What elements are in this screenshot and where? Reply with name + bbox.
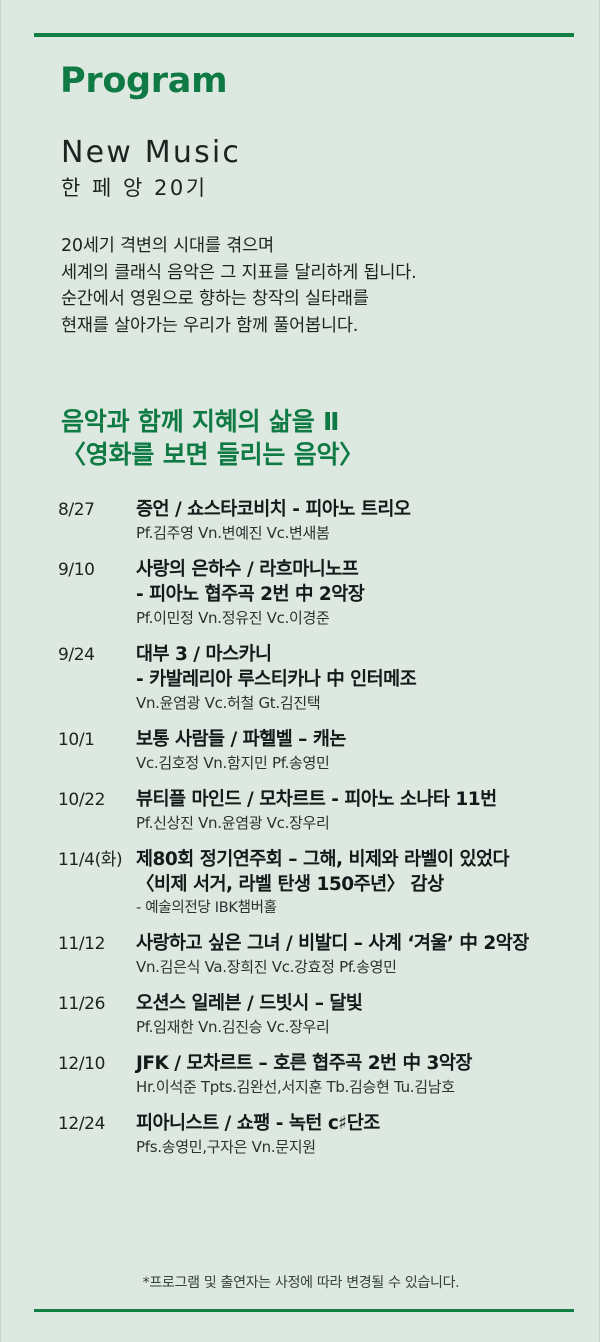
series-title-english: New Music — [61, 136, 241, 169]
entry-body: 사랑하고 싶은 그녀 / 비발디 – 사계 ‘겨울’ 中 2악장 Vn.김은식 … — [136, 931, 600, 978]
list-item: 10/22 뷰티플 마인드 / 모차르트 - 피아노 소나타 11번 Pf.신상… — [1, 787, 600, 847]
program-poster: Program New Music 한 페 앙 20기 20세기 격변의 시대를… — [0, 0, 600, 1342]
entry-title: 대부 3 / 마스카니 - 카발레리아 루스티카나 中 인터메조 — [136, 642, 600, 692]
entry-body: 대부 3 / 마스카니 - 카발레리아 루스티카나 中 인터메조 Vn.윤염광 … — [136, 642, 600, 714]
list-item: 11/26 오션스 일레븐 / 드빗시 – 달빛 Pf.임재한 Vn.김진승 V… — [1, 991, 600, 1051]
list-item: 12/24 피아니스트 / 쇼팽 - 녹턴 c♯단조 Pfs.송영민,구자은 V… — [1, 1111, 600, 1171]
entry-title: 사랑하고 싶은 그녀 / 비발디 – 사계 ‘겨울’ 中 2악장 — [136, 931, 600, 956]
entry-body: 뷰티플 마인드 / 모차르트 - 피아노 소나타 11번 Pf.신상진 Vn.윤… — [136, 787, 600, 834]
list-item: 11/12 사랑하고 싶은 그녀 / 비발디 – 사계 ‘겨울’ 中 2악장 V… — [1, 931, 600, 991]
list-item: 9/10 사랑의 은하수 / 라흐마니노프 - 피아노 협주곡 2번 中 2악장… — [1, 557, 600, 642]
entry-performers: Vc.김호정 Vn.함지민 Pf.송영민 — [136, 753, 600, 774]
entry-date: 10/1 — [58, 727, 136, 753]
section-title-line1: 음악과 함께 지혜의 삶을 Ⅱ — [61, 407, 339, 436]
entry-date: 12/24 — [58, 1111, 136, 1137]
entry-body: 사랑의 은하수 / 라흐마니노프 - 피아노 협주곡 2번 中 2악장 Pf.이… — [136, 557, 600, 629]
entry-performers: Pfs.송영민,구자은 Vn.문지원 — [136, 1137, 600, 1158]
bottom-divider-rule — [34, 1309, 574, 1312]
entry-title: 제80회 정기연주회 – 그해, 비제와 라벨이 있었다 〈비제 서거, 라벨 … — [136, 847, 600, 897]
top-divider-rule — [34, 33, 574, 37]
footnote-disclaimer: *프로그램 및 출연자는 사정에 따라 변경될 수 있습니다. — [1, 1272, 600, 1292]
entry-performers: Pf.김주영 Vn.변예진 Vc.변새봄 — [136, 523, 600, 544]
entry-body: 제80회 정기연주회 – 그해, 비제와 라벨이 있었다 〈비제 서거, 라벨 … — [136, 847, 600, 918]
entry-performers: Vn.김은식 Va.장희진 Vc.강효정 Pf.송영민 — [136, 957, 600, 978]
entry-title: 오션스 일레븐 / 드빗시 – 달빛 — [136, 991, 600, 1016]
entry-title: 피아니스트 / 쇼팽 - 녹턴 c♯단조 — [136, 1111, 600, 1136]
entry-performers: Vn.윤염광 Vc.허철 Gt.김진택 — [136, 693, 600, 714]
section-title: 음악과 함께 지혜의 삶을 Ⅱ 〈영화를 보면 들리는 음악〉 — [61, 405, 364, 471]
list-item: 10/1 보통 사람들 / 파헬벨 – 캐논 Vc.김호정 Vn.함지민 Pf.… — [1, 727, 600, 787]
entry-performers: Hr.이석준 Tpts.김완선,서지훈 Tb.김승현 Tu.김남호 — [136, 1077, 600, 1098]
series-title-korean: 한 페 앙 20기 — [61, 176, 208, 200]
entry-title: 사랑의 은하수 / 라흐마니노프 - 피아노 협주곡 2번 中 2악장 — [136, 557, 600, 607]
entry-body: 보통 사람들 / 파헬벨 – 캐논 Vc.김호정 Vn.함지민 Pf.송영민 — [136, 727, 600, 774]
entry-date: 11/4(화) — [58, 847, 136, 873]
intro-paragraph: 20세기 격변의 시대를 겪으며 세계의 클래식 음악은 그 지표를 달리하게 … — [61, 233, 417, 339]
entry-date: 9/10 — [58, 557, 136, 583]
entry-body: JFK / 모차르트 – 호른 협주곡 2번 中 3악장 Hr.이석준 Tpts… — [136, 1051, 600, 1098]
entry-performers: Pf.임재한 Vn.김진승 Vc.장우리 — [136, 1017, 600, 1038]
section-title-line2: 〈영화를 보면 들리는 음악〉 — [61, 438, 364, 471]
entry-date: 11/12 — [58, 931, 136, 957]
entry-title: JFK / 모차르트 – 호른 협주곡 2번 中 3악장 — [136, 1051, 600, 1076]
entry-date: 10/22 — [58, 787, 136, 813]
entry-body: 오션스 일레븐 / 드빗시 – 달빛 Pf.임재한 Vn.김진승 Vc.장우리 — [136, 991, 600, 1038]
list-item: 9/24 대부 3 / 마스카니 - 카발레리아 루스티카나 中 인터메조 Vn… — [1, 642, 600, 727]
list-item: 8/27 증언 / 쇼스타코비치 - 피아노 트리오 Pf.김주영 Vn.변예진… — [1, 497, 600, 557]
entry-title: 보통 사람들 / 파헬벨 – 캐논 — [136, 727, 600, 752]
entry-performers: Pf.신상진 Vn.윤염광 Vc.장우리 — [136, 813, 600, 834]
entry-body: 증언 / 쇼스타코비치 - 피아노 트리오 Pf.김주영 Vn.변예진 Vc.변… — [136, 497, 600, 544]
entry-date: 11/26 — [58, 991, 136, 1017]
entry-title: 뷰티플 마인드 / 모차르트 - 피아노 소나타 11번 — [136, 787, 600, 812]
entry-date: 12/10 — [58, 1051, 136, 1077]
entry-performers: Pf.이민정 Vn.정유진 Vc.이경준 — [136, 608, 600, 629]
list-item: 11/4(화) 제80회 정기연주회 – 그해, 비제와 라벨이 있었다 〈비제… — [1, 847, 600, 931]
page-title: Program — [60, 62, 227, 101]
entry-date: 8/27 — [58, 497, 136, 523]
program-list: 8/27 증언 / 쇼스타코비치 - 피아노 트리오 Pf.김주영 Vn.변예진… — [1, 497, 600, 1171]
entry-venue-note: - 예술의전당 IBK챔버홀 — [136, 898, 600, 918]
entry-title: 증언 / 쇼스타코비치 - 피아노 트리오 — [136, 497, 600, 522]
list-item: 12/10 JFK / 모차르트 – 호른 협주곡 2번 中 3악장 Hr.이석… — [1, 1051, 600, 1111]
entry-date: 9/24 — [58, 642, 136, 668]
entry-body: 피아니스트 / 쇼팽 - 녹턴 c♯단조 Pfs.송영민,구자은 Vn.문지원 — [136, 1111, 600, 1158]
